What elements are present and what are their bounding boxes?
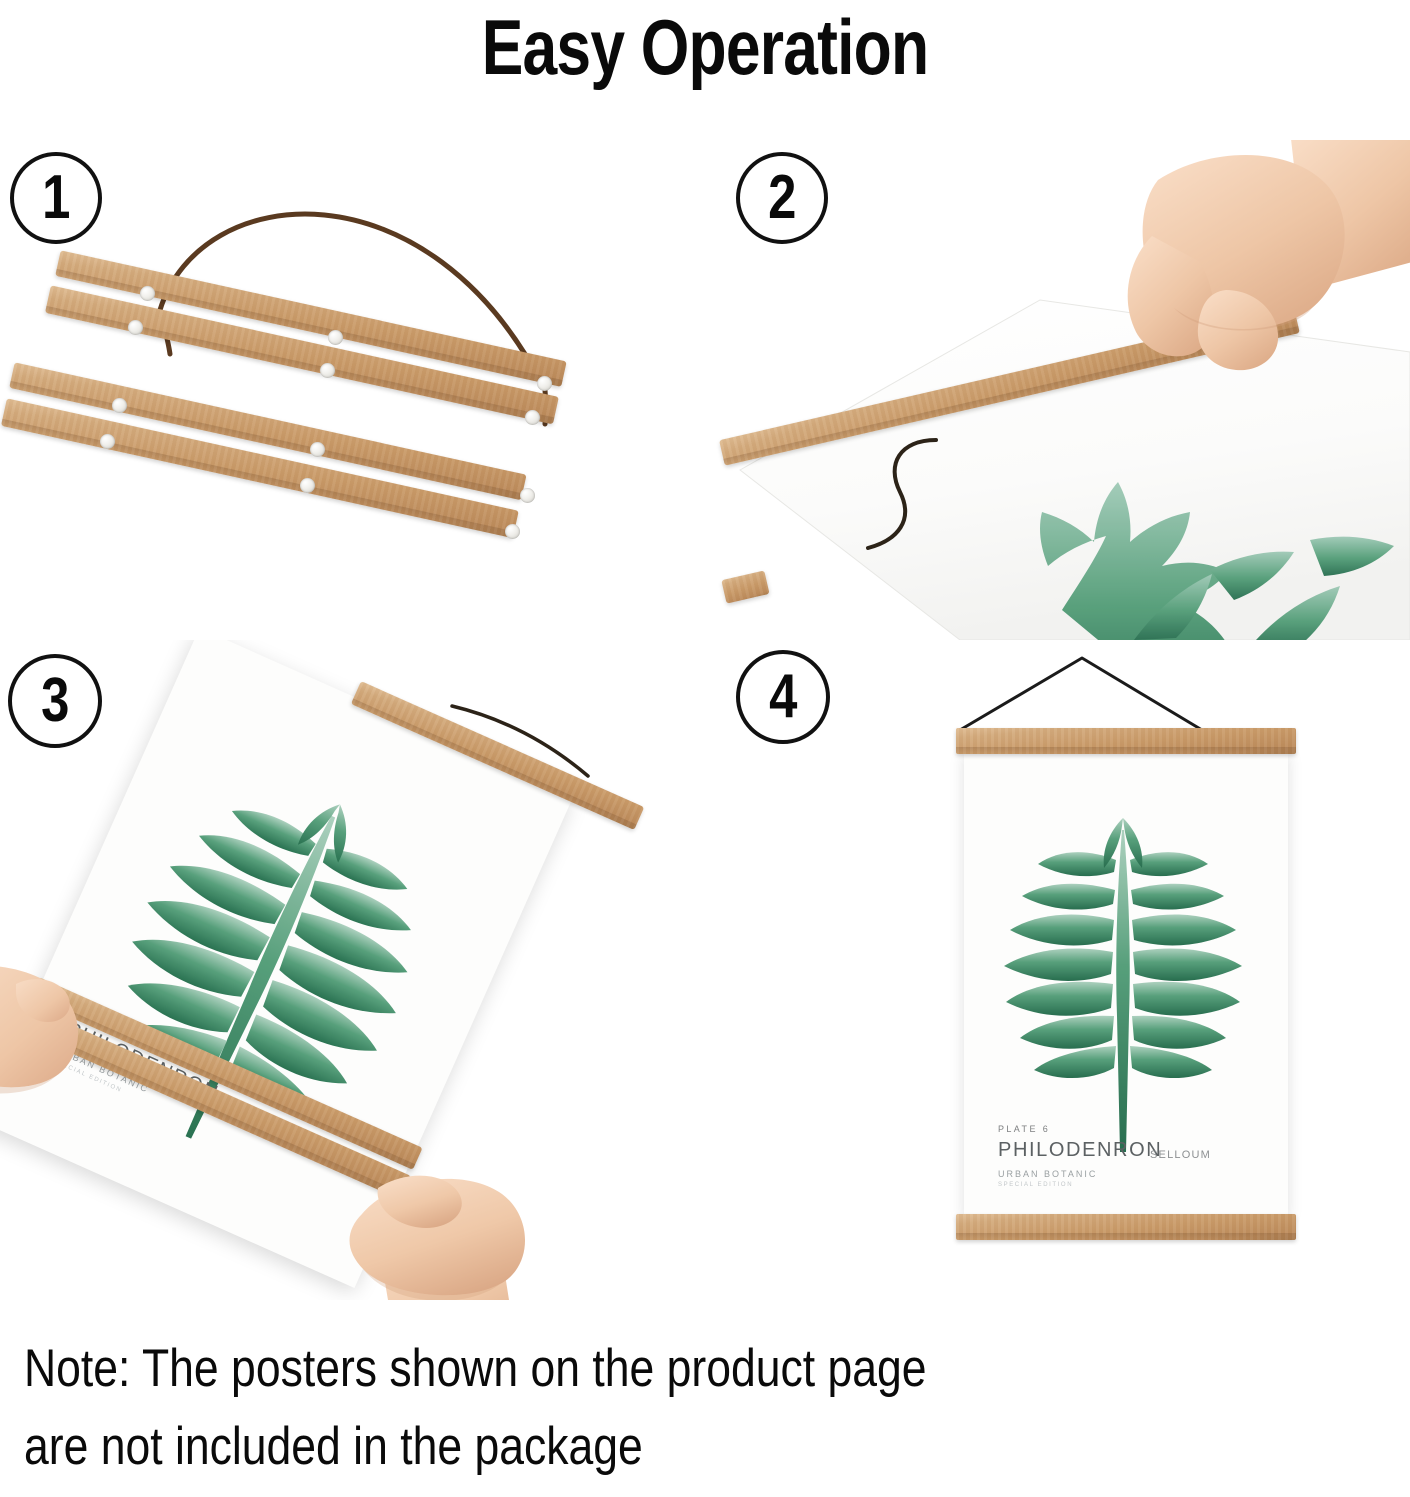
poster-plate: PLATE 6 (998, 1124, 1050, 1134)
step-badge-2-label: 2 (768, 167, 796, 229)
note-line-2: are not included in the package (24, 1408, 1175, 1486)
note-text: Note: The posters shown on the product p… (24, 1330, 1175, 1486)
magnet-dot-icon (140, 286, 155, 301)
magnet-dot-icon (320, 363, 335, 378)
step-badge-2: 2 (736, 152, 828, 244)
poster-edition: SPECIAL EDITION (998, 1182, 1073, 1188)
step-badge-1-label: 1 (42, 167, 70, 229)
hand-right (1040, 140, 1410, 470)
magnet-dot-icon (128, 320, 143, 335)
magnet-dot-icon (520, 488, 535, 503)
magnet-dot-icon (505, 524, 520, 539)
step-badge-3: 3 (8, 654, 102, 748)
step-3-illustration: PLATE 6 PHILODENRON SELLOUM URBAN BOTANI… (0, 640, 700, 1300)
wood-rail-top (956, 728, 1296, 754)
step-4-illustration: PLATE 6 PHILODENRON SELLOUM URBAN BOTANI… (710, 640, 1410, 1300)
step-badge-4: 4 (736, 650, 830, 744)
poster-species: SELLOUM (1150, 1149, 1211, 1161)
poster-sheet: PLATE 6 PHILODENRON SELLOUM URBAN BOTANI… (964, 752, 1288, 1216)
magnet-dot-icon (525, 410, 540, 425)
step-badge-3-label: 3 (41, 670, 69, 732)
magnet-dot-icon (100, 434, 115, 449)
hand-right (320, 1160, 580, 1300)
step-1-illustration (0, 140, 700, 640)
step-badge-1: 1 (10, 152, 102, 244)
hand-left (0, 940, 120, 1120)
magnet-dot-icon (112, 398, 127, 413)
step-badge-4-label: 4 (769, 666, 797, 728)
magnet-dot-icon (310, 442, 325, 457)
poster-brand: URBAN BOTANIC (998, 1169, 1097, 1179)
magnet-dot-icon (537, 376, 552, 391)
poster-name: PHILODENRON (998, 1139, 1162, 1162)
magnet-dot-icon (300, 478, 315, 493)
wood-rail-bottom (956, 1214, 1296, 1240)
magnet-dot-icon (328, 330, 343, 345)
page-title: Easy Operation (141, 0, 1269, 95)
note-line-1: Note: The posters shown on the product p… (24, 1330, 1175, 1408)
